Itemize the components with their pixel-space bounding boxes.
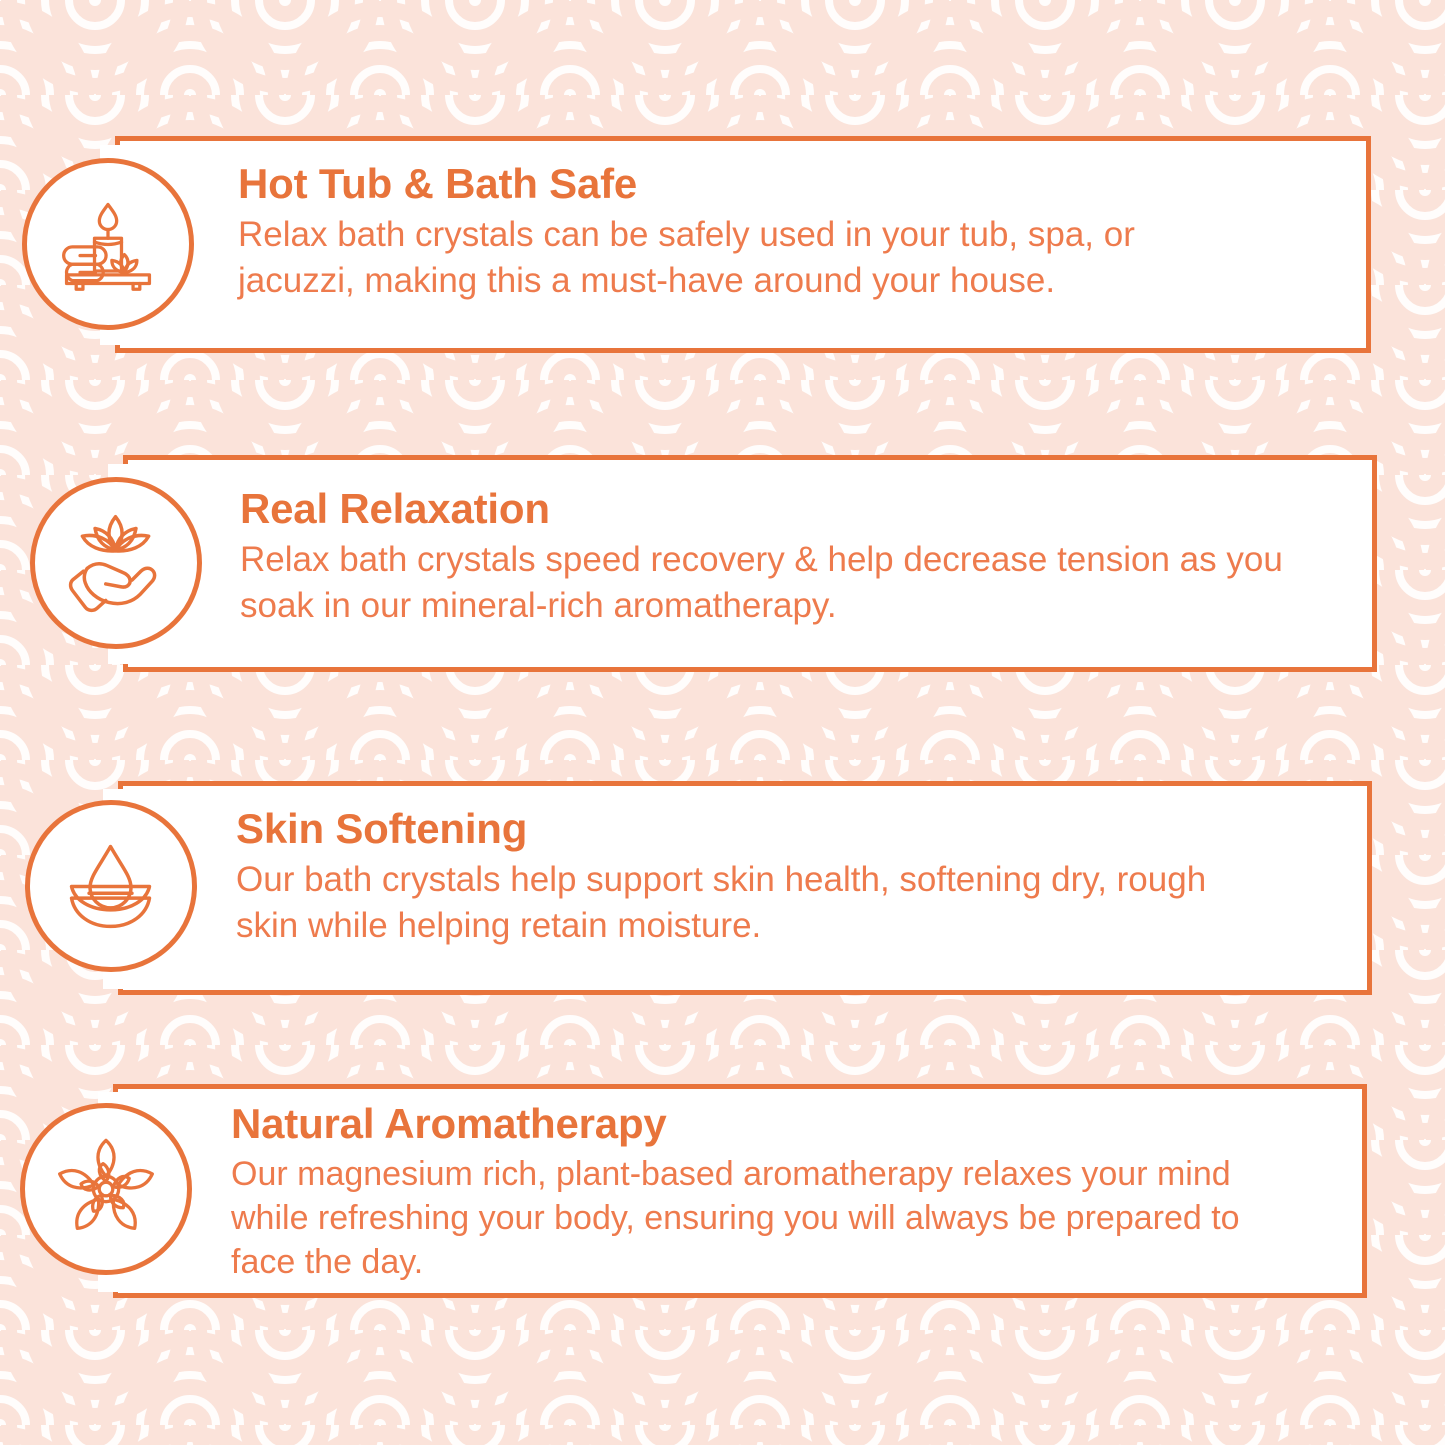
hand-holding-lotus-icon (30, 477, 202, 649)
feature-card-text: Hot Tub & Bath Safe Relax bath crystals … (238, 162, 1238, 303)
feature-card-text: Skin Softening Our bath crystals help su… (236, 807, 1236, 948)
feature-title: Real Relaxation (240, 487, 1310, 531)
feature-title: Hot Tub & Bath Safe (238, 162, 1238, 206)
feature-body: Our bath crystals help support skin heal… (236, 857, 1236, 948)
water-droplet-bowl-icon (25, 800, 197, 972)
feature-body: Our magnesium rich, plant-based aromathe… (231, 1152, 1261, 1285)
feature-title: Skin Softening (236, 807, 1236, 851)
feature-body: Relax bath crystals speed recovery & hel… (240, 537, 1310, 628)
feature-title: Natural Aromatherapy (231, 1102, 1261, 1146)
candle-towels-tray-icon (22, 158, 194, 330)
feature-body: Relax bath crystals can be safely used i… (238, 212, 1238, 303)
feature-card-text: Natural Aromatherapy Our magnesium rich,… (231, 1102, 1261, 1285)
five-petal-flower-icon (20, 1103, 192, 1275)
feature-card-text: Real Relaxation Relax bath crystals spee… (240, 487, 1310, 628)
